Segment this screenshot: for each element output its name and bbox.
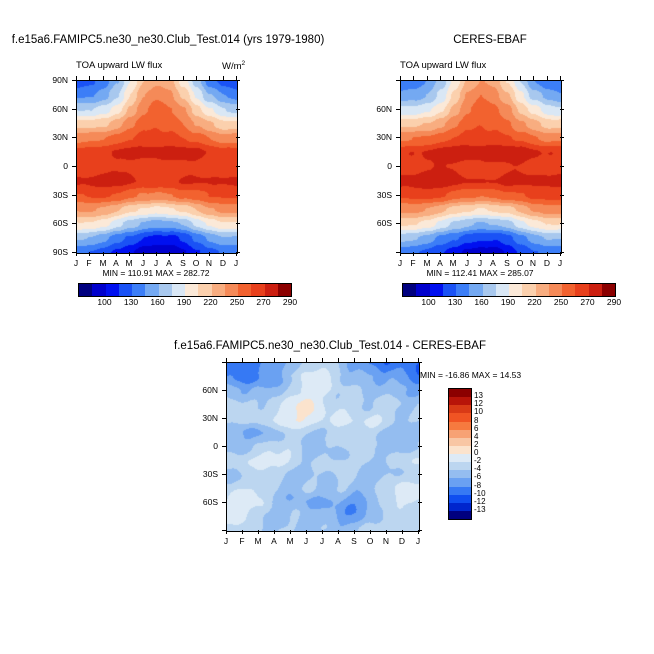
obs-colorbar-swatch — [403, 284, 416, 296]
diff-xtick-bottom — [338, 530, 339, 534]
obs-plot[interactable] — [400, 80, 562, 254]
model-xtick-top — [116, 76, 117, 80]
diff-title: f.e15a6.FAMIPC5.ne30_ne30.Club_Test.014 … — [140, 340, 520, 352]
model-xtick-bottom — [223, 252, 224, 256]
model-title: f.e15a6.FAMIPC5.ne30_ne30.Club_Test.014 … — [0, 34, 336, 46]
obs-colorbar-swatch — [562, 284, 575, 296]
model-colorbar-swatch — [212, 284, 225, 296]
diff-xlabel: N — [378, 536, 394, 546]
model-colorbar-swatch — [132, 284, 145, 296]
model-units-exponent: 2 — [242, 60, 246, 67]
diff-ylabel: 30N — [184, 413, 218, 423]
obs-xtick-top — [427, 76, 428, 80]
model-ylabel: 60S — [34, 218, 68, 228]
obs-colorbar-swatch — [602, 284, 615, 296]
obs-colorbar-swatch — [430, 284, 443, 296]
model-ytick-right — [236, 223, 240, 224]
obs-ytick-right — [560, 137, 564, 138]
model-xtick-top — [236, 76, 237, 80]
obs-colorbar-label: 250 — [547, 297, 575, 307]
diff-ytick — [222, 474, 226, 475]
obs-xlabel: J — [552, 258, 568, 268]
diff-xtick-bottom — [274, 530, 275, 534]
diff-xtick-top — [226, 358, 227, 362]
diff-xlabel: J — [298, 536, 314, 546]
model-colorbar-label: 160 — [144, 297, 172, 307]
diff-ytick — [222, 390, 226, 391]
diff-xlabel: J — [218, 536, 234, 546]
diff-colorbar-swatch — [449, 405, 471, 413]
diff-xlabel: F — [234, 536, 250, 546]
obs-xtick-top — [533, 76, 534, 80]
diff-colorbar-swatch — [449, 487, 471, 495]
model-colorbar-swatch — [278, 284, 291, 296]
model-colorbar-label: 250 — [223, 297, 251, 307]
diff-xtick-top — [370, 358, 371, 362]
obs-xtick-bottom — [547, 252, 548, 256]
obs-colorbar-swatch — [522, 284, 535, 296]
obs-ytick — [396, 137, 400, 138]
obs-ytick — [396, 223, 400, 224]
diff-colorbar-swatch — [449, 430, 471, 438]
diff-xtick-bottom — [386, 530, 387, 534]
obs-colorbar-swatch — [483, 284, 496, 296]
model-units: W/m2 — [222, 60, 245, 72]
model-xtick-bottom — [129, 252, 130, 256]
diff-colorbar-swatch — [449, 422, 471, 430]
model-xtick-bottom — [103, 252, 104, 256]
model-xtick-top — [196, 76, 197, 80]
diff-colorbar-swatch — [449, 446, 471, 454]
model-colorbar — [78, 283, 292, 297]
obs-colorbar-swatch — [575, 284, 588, 296]
obs-ylabel: 60N — [358, 104, 392, 114]
diff-xlabel: A — [266, 536, 282, 546]
obs-xtick-top — [413, 76, 414, 80]
diff-ytick — [222, 362, 226, 363]
model-xtick-bottom — [209, 252, 210, 256]
model-xtick-top — [209, 76, 210, 80]
obs-colorbar-swatch — [496, 284, 509, 296]
diff-colorbar-swatch — [449, 438, 471, 446]
obs-ytick — [396, 195, 400, 196]
obs-xtick-top — [440, 76, 441, 80]
diff-xtick-bottom — [226, 530, 227, 534]
model-ylabel: 90S — [34, 247, 68, 257]
model-colorbar-label: 290 — [276, 297, 304, 307]
diff-minmax: MIN = -16.86 MAX = 14.53 — [420, 370, 570, 380]
diff-xtick-bottom — [402, 530, 403, 534]
model-colorbar-label: 190 — [170, 297, 198, 307]
diff-xlabel: J — [314, 536, 330, 546]
obs-ylabel: 30S — [358, 190, 392, 200]
diff-colorbar-swatch — [449, 470, 471, 478]
obs-xtick-bottom — [453, 252, 454, 256]
model-ytick — [72, 109, 76, 110]
obs-xtick-top — [547, 76, 548, 80]
diff-colorbar — [448, 388, 472, 520]
diff-ytick — [222, 418, 226, 419]
model-xtick-top — [143, 76, 144, 80]
model-colorbar-label: 220 — [197, 297, 225, 307]
model-ytick — [72, 166, 76, 167]
model-ytick — [72, 80, 76, 81]
diff-colorbar-swatch — [449, 397, 471, 405]
diff-xtick-top — [290, 358, 291, 362]
diff-xlabel: A — [330, 536, 346, 546]
obs-colorbar-swatch — [416, 284, 429, 296]
diff-xlabel: M — [250, 536, 266, 546]
obs-minmax: MIN = 112.41 MAX = 285.07 — [380, 268, 580, 278]
model-colorbar-swatch — [265, 284, 278, 296]
model-minmax: MIN = 110.91 MAX = 282.72 — [56, 268, 256, 278]
model-colorbar-swatch — [79, 284, 92, 296]
model-plot[interactable] — [76, 80, 238, 254]
diff-ytick — [222, 446, 226, 447]
obs-xtick-top — [493, 76, 494, 80]
diff-xtick-bottom — [258, 530, 259, 534]
obs-colorbar-label: 270 — [574, 297, 602, 307]
obs-ytick — [396, 80, 400, 81]
diff-xtick-top — [306, 358, 307, 362]
diff-ytick-right — [418, 362, 422, 363]
model-colorbar-swatch — [159, 284, 172, 296]
diff-xtick-bottom — [290, 530, 291, 534]
model-ytick-right — [236, 109, 240, 110]
model-ytick — [72, 195, 76, 196]
diff-xtick-bottom — [354, 530, 355, 534]
model-colorbar-swatch — [172, 284, 185, 296]
diff-xtick-bottom — [306, 530, 307, 534]
obs-colorbar-label: 160 — [468, 297, 496, 307]
model-xtick-bottom — [196, 252, 197, 256]
model-ytick-right — [236, 80, 240, 81]
obs-colorbar-swatch — [456, 284, 469, 296]
diff-plot[interactable] — [226, 362, 420, 532]
model-ylabel: 30N — [34, 132, 68, 142]
obs-ylabel: 30N — [358, 132, 392, 142]
obs-xtick-top — [480, 76, 481, 80]
model-colorbar-label: 270 — [250, 297, 278, 307]
obs-xtick-top — [400, 76, 401, 80]
diff-xtick-bottom — [322, 530, 323, 534]
model-ytick-right — [236, 195, 240, 196]
obs-colorbar-swatch — [589, 284, 602, 296]
obs-colorbar-label: 190 — [494, 297, 522, 307]
model-units-text: W/m — [222, 61, 242, 72]
model-colorbar-swatch — [225, 284, 238, 296]
diff-colorbar-swatch — [449, 495, 471, 503]
model-ylabel: 90N — [34, 75, 68, 85]
model-colorbar-swatch — [198, 284, 211, 296]
model-xtick-bottom — [116, 252, 117, 256]
model-colorbar-swatch — [145, 284, 158, 296]
diff-ylabel: 30S — [184, 469, 218, 479]
model-colorbar-swatch — [106, 284, 119, 296]
obs-colorbar-swatch — [536, 284, 549, 296]
model-xtick-top — [76, 76, 77, 80]
obs-xtick-bottom — [413, 252, 414, 256]
diff-ytick-right — [418, 474, 422, 475]
obs-xtick-top — [453, 76, 454, 80]
model-xtick-bottom — [143, 252, 144, 256]
diff-ytick-right — [418, 446, 422, 447]
model-xtick-bottom — [169, 252, 170, 256]
model-xtick-top — [89, 76, 90, 80]
diff-xtick-bottom — [242, 530, 243, 534]
diff-colorbar-label: -13 — [474, 505, 486, 514]
obs-colorbar-swatch — [549, 284, 562, 296]
obs-xtick-top — [507, 76, 508, 80]
obs-ytick — [396, 109, 400, 110]
model-xtick-top — [103, 76, 104, 80]
obs-title: CERES-EBAF — [340, 34, 640, 46]
obs-ytick-right — [560, 166, 564, 167]
model-ytick — [72, 223, 76, 224]
obs-xtick-bottom — [467, 252, 468, 256]
model-colorbar-swatch — [185, 284, 198, 296]
model-ytick-right — [236, 137, 240, 138]
model-colorbar-swatch — [119, 284, 132, 296]
model-xtick-bottom — [183, 252, 184, 256]
model-xtick-top — [169, 76, 170, 80]
diff-colorbar-swatch — [449, 478, 471, 486]
model-colorbar-label: 100 — [91, 297, 119, 307]
obs-xtick-top — [520, 76, 521, 80]
diff-xlabel: D — [394, 536, 410, 546]
model-xtick-bottom — [76, 252, 77, 256]
diff-xlabel: J — [410, 536, 426, 546]
diff-xtick-top — [402, 358, 403, 362]
diff-ytick-right — [418, 390, 422, 391]
model-xtick-top — [156, 76, 157, 80]
obs-xtick-bottom — [507, 252, 508, 256]
obs-xtick-bottom — [520, 252, 521, 256]
diff-xlabel: O — [362, 536, 378, 546]
model-ytick — [72, 137, 76, 138]
diff-ytick-right — [418, 502, 422, 503]
model-xtick-bottom — [236, 252, 237, 256]
diff-colorbar-swatch — [449, 413, 471, 421]
obs-colorbar-label: 220 — [521, 297, 549, 307]
obs-xtick-bottom — [400, 252, 401, 256]
model-ylabel: 60N — [34, 104, 68, 114]
obs-colorbar — [402, 283, 616, 297]
model-colorbar-label: 130 — [117, 297, 145, 307]
diff-colorbar-swatch — [449, 454, 471, 462]
diff-colorbar-swatch — [449, 503, 471, 511]
model-xtick-bottom — [89, 252, 90, 256]
diff-colorbar-swatch — [449, 389, 471, 397]
model-colorbar-swatch — [238, 284, 251, 296]
model-xtick-bottom — [156, 252, 157, 256]
obs-ytick-right — [560, 80, 564, 81]
obs-xtick-bottom — [480, 252, 481, 256]
diff-ytick — [222, 502, 226, 503]
model-ylabel: 30S — [34, 190, 68, 200]
model-ytick-right — [236, 166, 240, 167]
obs-colorbar-label: 130 — [441, 297, 469, 307]
obs-ytick — [396, 166, 400, 167]
model-xlabel: J — [228, 258, 244, 268]
diff-xtick-bottom — [370, 530, 371, 534]
diff-ylabel: 60N — [184, 385, 218, 395]
diff-xtick-top — [338, 358, 339, 362]
obs-xtick-top — [467, 76, 468, 80]
diff-xtick-top — [242, 358, 243, 362]
diff-ytick-right — [418, 418, 422, 419]
obs-ylabel: 60S — [358, 218, 392, 228]
obs-xtick-top — [560, 76, 561, 80]
diff-xtick-top — [258, 358, 259, 362]
diff-xtick-top — [274, 358, 275, 362]
model-xtick-top — [129, 76, 130, 80]
diff-xlabel: S — [346, 536, 362, 546]
diff-ylabel: 60S — [184, 497, 218, 507]
model-colorbar-swatch — [92, 284, 105, 296]
model-subtitle: TOA upward LW flux — [76, 60, 162, 71]
diff-xtick-top — [322, 358, 323, 362]
model-xtick-top — [223, 76, 224, 80]
obs-colorbar-swatch — [509, 284, 522, 296]
diff-ylabel: 0 — [184, 441, 218, 451]
obs-ytick-right — [560, 195, 564, 196]
diff-xtick-bottom — [418, 530, 419, 534]
obs-xtick-bottom — [493, 252, 494, 256]
diff-xtick-top — [354, 358, 355, 362]
obs-colorbar-label: 290 — [600, 297, 628, 307]
obs-xtick-bottom — [533, 252, 534, 256]
diff-xlabel: M — [282, 536, 298, 546]
obs-xtick-bottom — [560, 252, 561, 256]
diff-xtick-top — [386, 358, 387, 362]
diff-xtick-top — [418, 358, 419, 362]
diff-colorbar-swatch — [449, 511, 471, 519]
model-colorbar-swatch — [251, 284, 264, 296]
obs-xtick-bottom — [427, 252, 428, 256]
obs-subtitle: TOA upward LW flux — [400, 60, 486, 71]
obs-xtick-bottom — [440, 252, 441, 256]
model-xtick-top — [183, 76, 184, 80]
obs-colorbar-swatch — [469, 284, 482, 296]
model-ylabel: 0 — [34, 161, 68, 171]
obs-colorbar-label: 100 — [415, 297, 443, 307]
obs-ylabel: 0 — [358, 161, 392, 171]
obs-ytick-right — [560, 223, 564, 224]
diff-colorbar-swatch — [449, 462, 471, 470]
obs-colorbar-swatch — [443, 284, 456, 296]
obs-ytick-right — [560, 109, 564, 110]
